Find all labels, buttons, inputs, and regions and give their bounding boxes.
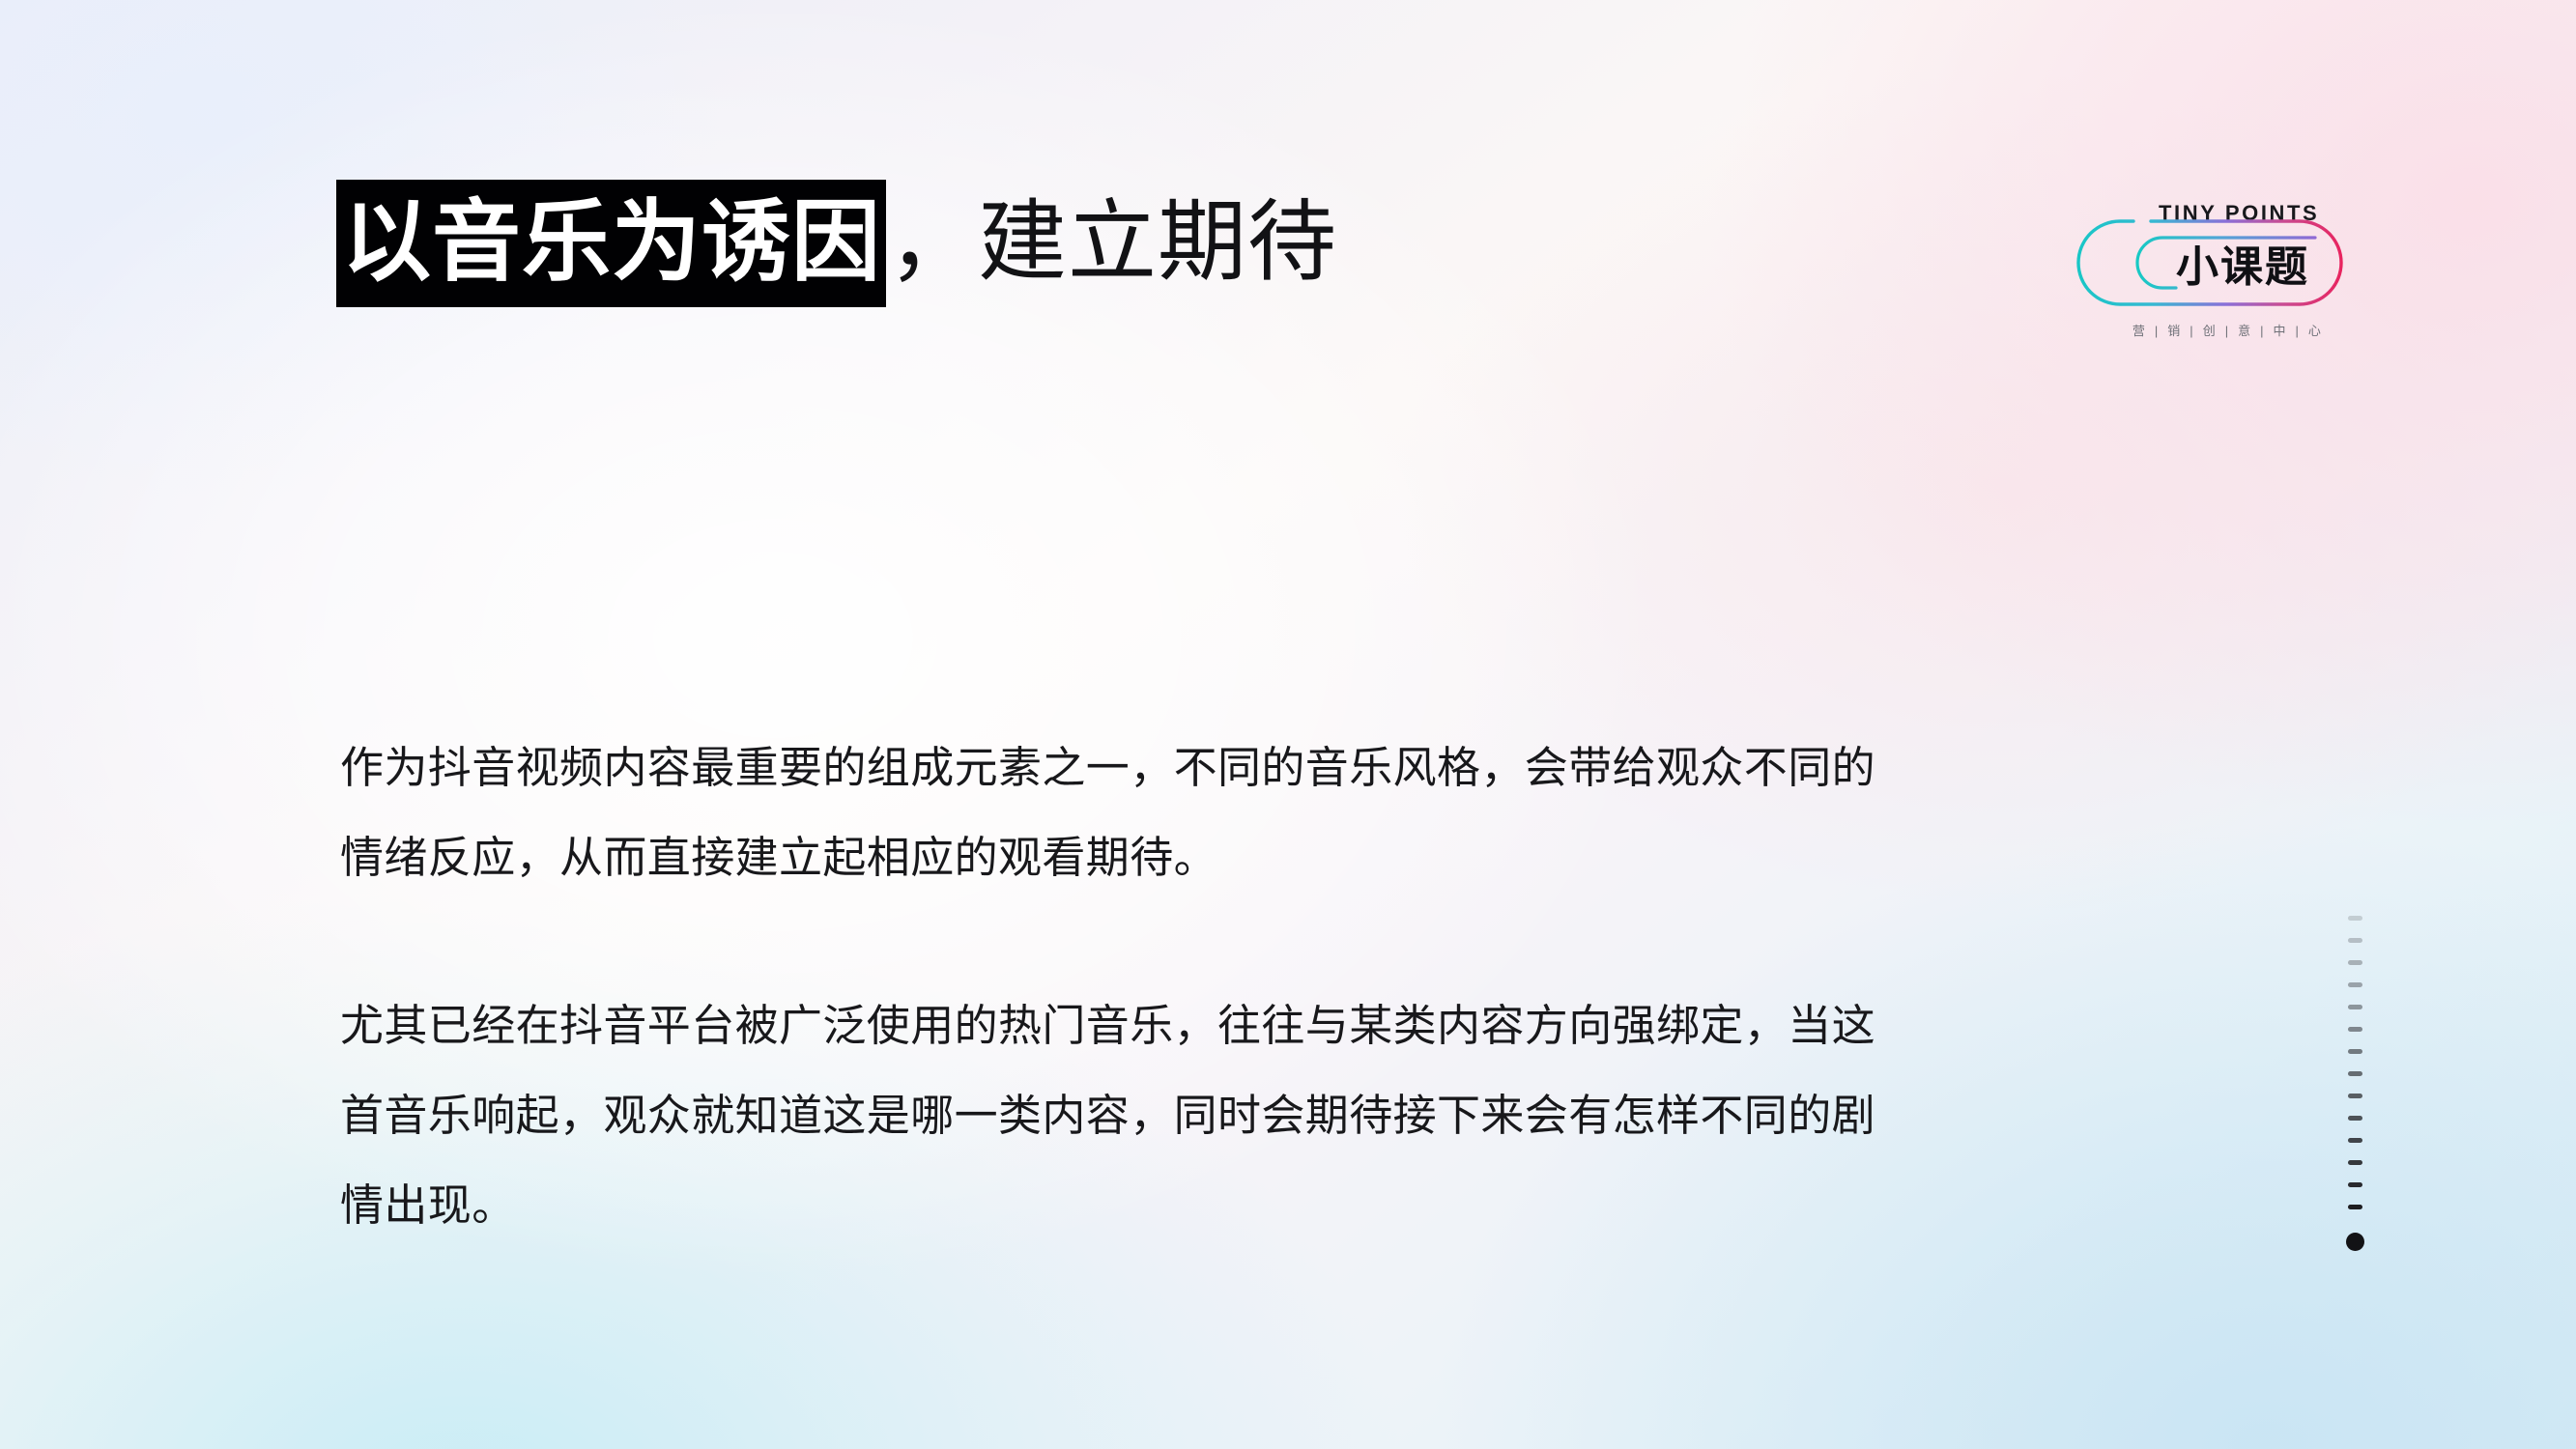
rail-dash <box>2348 1182 2362 1187</box>
logo-chinese-name: 小课题 <box>2176 232 2309 294</box>
body-copy: 作为抖音视频内容最重要的组成元素之一，不同的音乐风格，会带给观众不同的情绪反应，… <box>340 723 1896 1250</box>
rail-dash <box>2348 960 2362 965</box>
rail-dash <box>2348 982 2362 987</box>
logo-tagline: 营 | 销 | 创 | 意 | 中 | 心 <box>2097 321 2360 339</box>
rail-dash <box>2348 1027 2362 1032</box>
body-paragraph-1: 作为抖音视频内容最重要的组成元素之一，不同的音乐风格，会带给观众不同的情绪反应，… <box>340 723 1896 902</box>
title-remaining-text: ，建立期待 <box>886 198 1337 287</box>
rail-dash <box>2348 1205 2362 1209</box>
rail-dash <box>2348 1094 2362 1098</box>
title-highlighted-text: 以音乐为诱因 <box>336 180 886 307</box>
slide-title: 以音乐为诱因 ，建立期待 <box>336 180 1337 307</box>
rail-dash <box>2348 1160 2362 1165</box>
rail-dash <box>2348 1116 2362 1121</box>
rail-dash <box>2348 1005 2362 1009</box>
slide-canvas: 以音乐为诱因 ，建立期待 作为抖音视频内容最重要的组成元素之一，不同的音乐风格，… <box>0 0 2576 1449</box>
rail-dash <box>2348 1138 2362 1143</box>
rail-dash <box>2348 916 2362 921</box>
body-paragraph-2: 尤其已经在抖音平台被广泛使用的热门音乐，往往与某类内容方向强绑定，当这首音乐响起… <box>340 980 1896 1250</box>
rail-dash <box>2348 938 2362 943</box>
brand-logo: TINY POINTS 小课题 <box>2075 189 2365 334</box>
dashed-rail-decoration <box>2346 916 2365 1254</box>
rail-dash <box>2348 1071 2362 1076</box>
rail-end-dot <box>2346 1233 2364 1251</box>
rail-dash <box>2348 1049 2362 1054</box>
